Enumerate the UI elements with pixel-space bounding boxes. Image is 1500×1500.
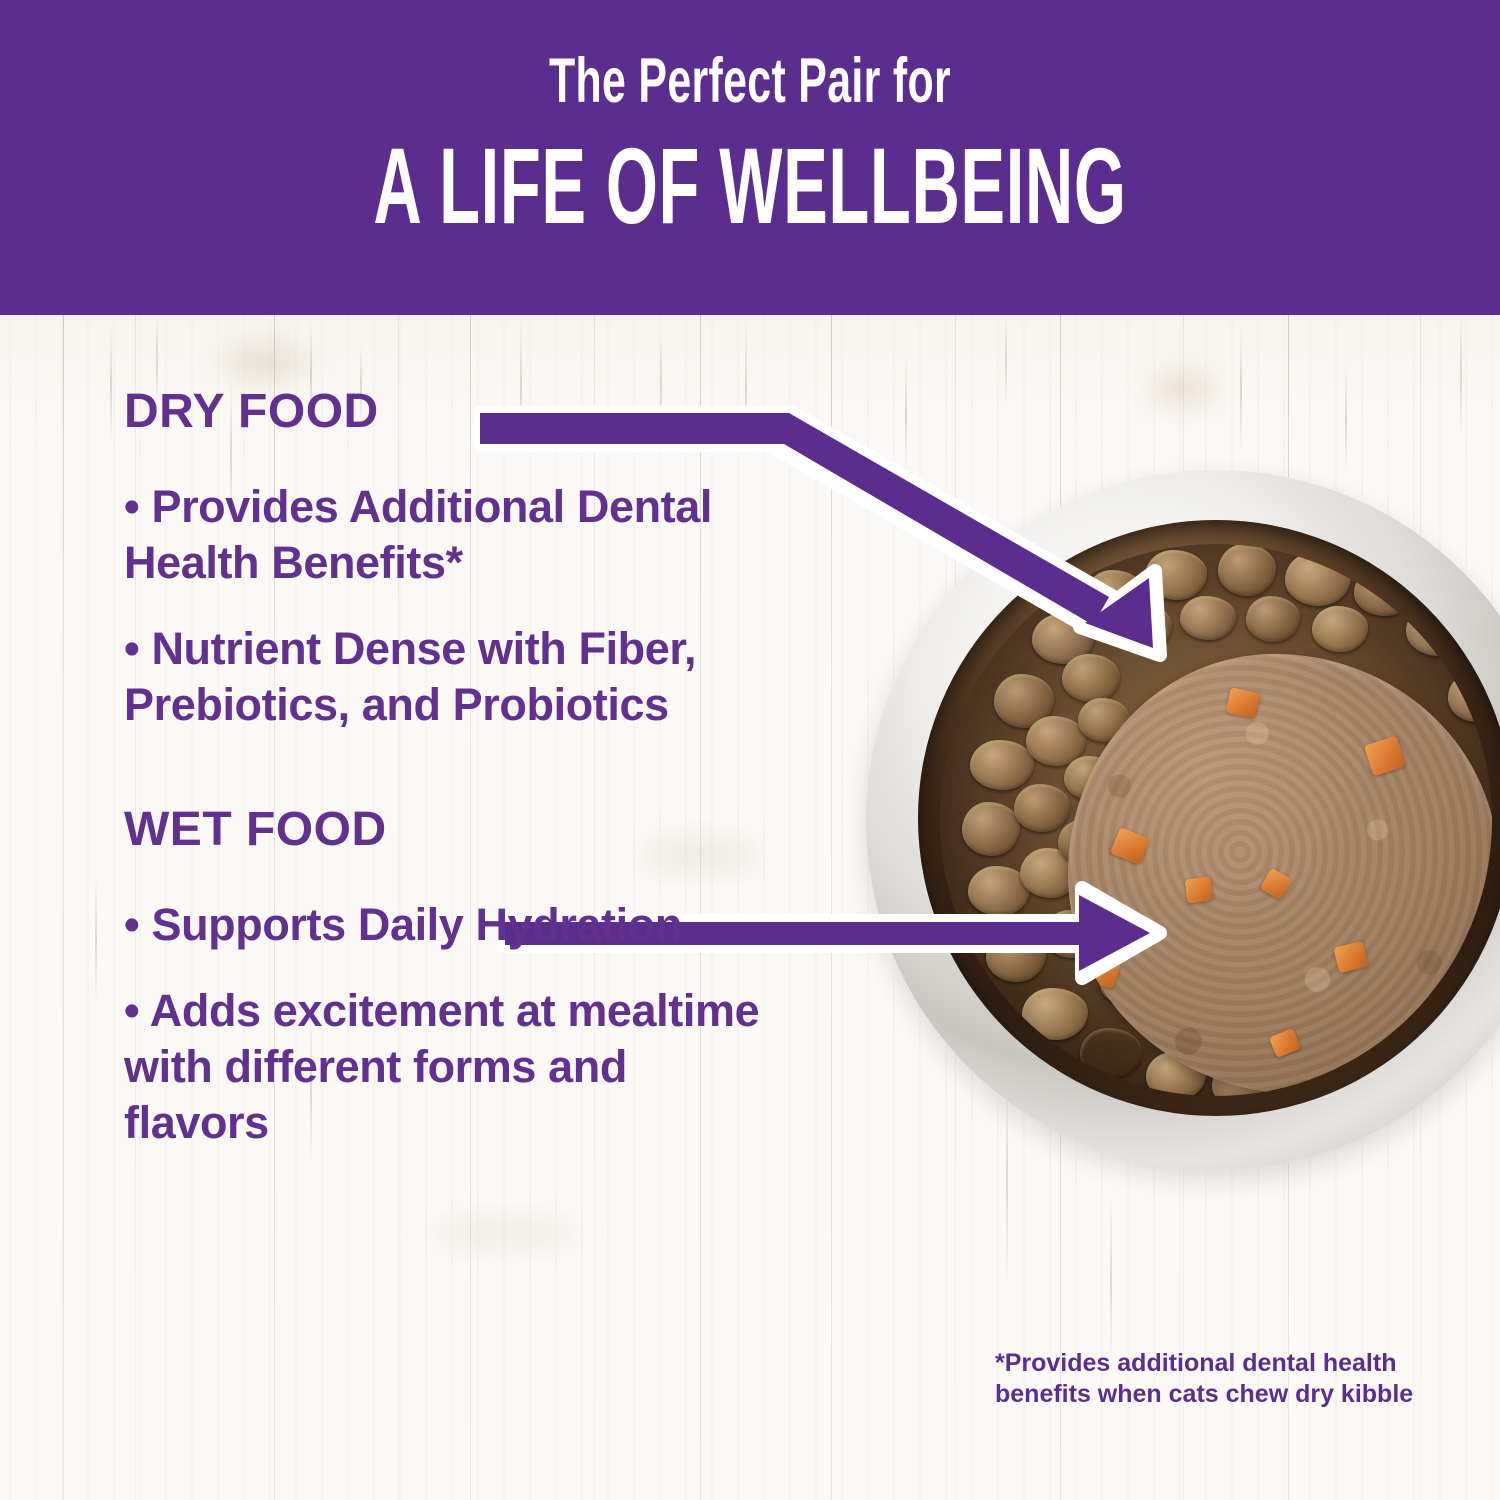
header-banner: The Perfect Pair for A LIFE OF WELLBEING [0, 0, 1500, 315]
dry-food-bullet-1: • Provides Additional Dental Health Bene… [124, 479, 764, 591]
wet-food-pate [1068, 654, 1492, 1094]
footnote: *Provides additional dental health benef… [995, 1348, 1465, 1410]
bowl-food-area [940, 544, 1492, 1096]
section-heading-wet-food: WET FOOD [124, 803, 844, 857]
banner-title: A LIFE OF WELLBEING [285, 130, 1215, 242]
benefits-column: DRY FOOD • Provides Additional Dental He… [124, 385, 844, 1151]
footnote-line-1: *Provides additional dental health [995, 1348, 1465, 1379]
section-heading-dry-food: DRY FOOD [124, 385, 844, 439]
dry-food-bullet-2: • Nutrient Dense with Fiber, Prebiotics,… [124, 621, 764, 733]
marketing-graphic: The Perfect Pair for A LIFE OF WELLBEING… [0, 0, 1500, 1500]
footnote-line-2: benefits when cats chew dry kibble [995, 1379, 1465, 1410]
wet-food-bullet-1: • Supports Daily Hydration [124, 897, 764, 953]
banner-eyebrow: The Perfect Pair for [240, 46, 1260, 116]
wet-food-bullet-2: • Adds excitement at mealtime with diffe… [124, 983, 764, 1151]
pet-food-bowl-photo [866, 470, 1500, 1305]
